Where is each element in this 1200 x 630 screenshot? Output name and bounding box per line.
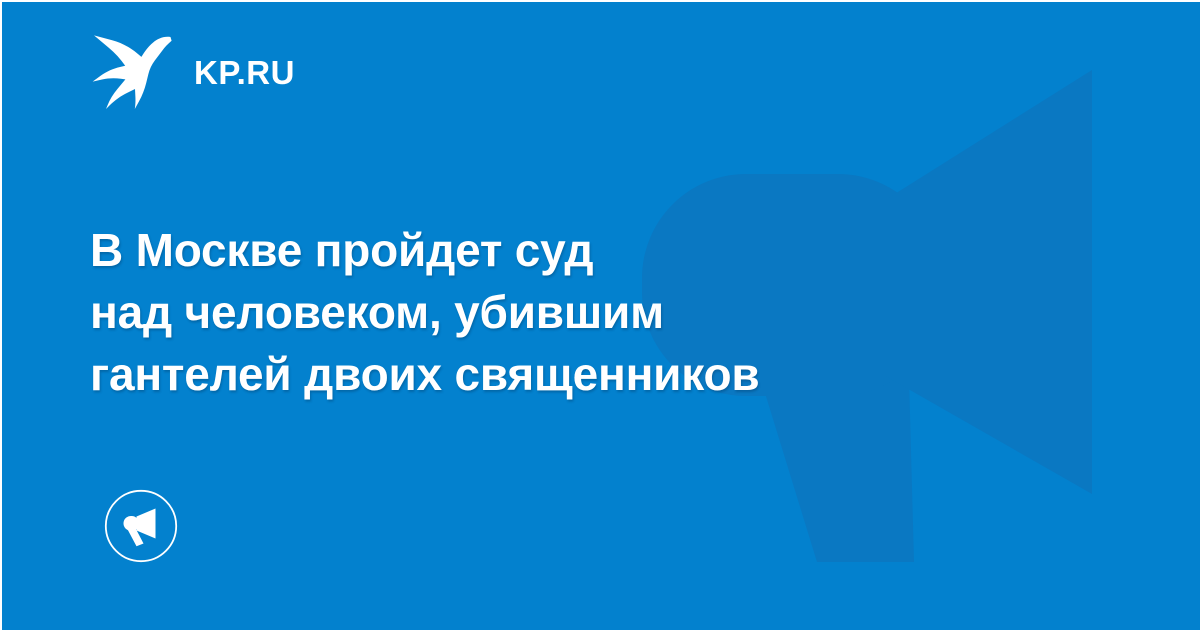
swallow-bird-icon — [92, 35, 172, 109]
brand-header[interactable]: KP.RU — [92, 34, 295, 110]
headline-line-1: В Москве пройдет суд — [90, 219, 1090, 281]
megaphone-icon — [104, 489, 178, 563]
brand-wordmark: KP.RU — [194, 56, 295, 89]
headline: В Москве пройдет суд над человеком, убив… — [90, 219, 1090, 405]
megaphone-badge[interactable] — [104, 489, 178, 563]
social-share-card: KP.RU В Москве пройдет суд над человеком… — [0, 0, 1200, 630]
headline-line-3: гантелей двоих священников — [90, 343, 1090, 405]
headline-line-2: над человеком, убившим — [90, 281, 1090, 343]
